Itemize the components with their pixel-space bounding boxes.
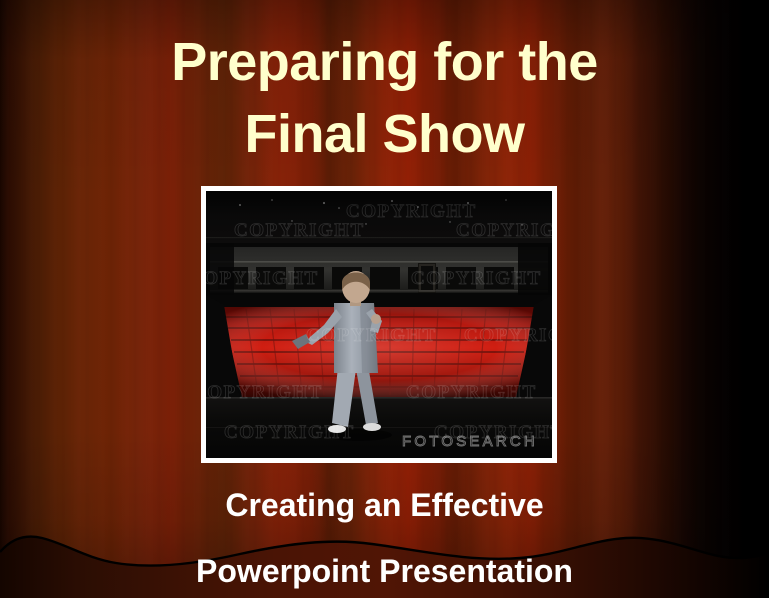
svg-text:COPYRIGHT: COPYRIGHT (206, 382, 323, 403)
slide-title: Preparing for the Final Show (0, 26, 769, 170)
svg-text:COPYRIGHT: COPYRIGHT (206, 268, 319, 289)
theater-stage-photo: COPYRIGHT COPYRIGHT COPYRIGHT COPYRIGHT … (206, 191, 552, 458)
theater-photo-artwork: COPYRIGHT COPYRIGHT COPYRIGHT COPYRIGHT … (206, 191, 552, 458)
svg-text:COPYRIGHT: COPYRIGHT (224, 422, 355, 443)
svg-text:COPYRIGHT: COPYRIGHT (464, 325, 552, 346)
subtitle-line-2: Powerpoint Presentation (0, 538, 769, 598)
title-line-1: Preparing for the (0, 26, 769, 98)
fotosearch-watermark: FOTOSEARCH (402, 433, 538, 450)
svg-text:COPYRIGHT: COPYRIGHT (411, 268, 542, 289)
subtitle-line-1: Creating an Effective (0, 472, 769, 538)
title-line-2: Final Show (0, 98, 769, 170)
misspelled-word: Powerpoint (196, 538, 370, 598)
svg-text:COPYRIGHT: COPYRIGHT (306, 325, 437, 346)
slide-subtitle: Creating an Effective Powerpoint Present… (0, 472, 769, 598)
svg-text:COPYRIGHT: COPYRIGHT (406, 382, 537, 403)
photo-frame: COPYRIGHT COPYRIGHT COPYRIGHT COPYRIGHT … (201, 186, 557, 463)
presentation-slide: Preparing for the Final Show (0, 0, 769, 598)
subtitle-line-2-rest: Presentation (370, 553, 573, 589)
